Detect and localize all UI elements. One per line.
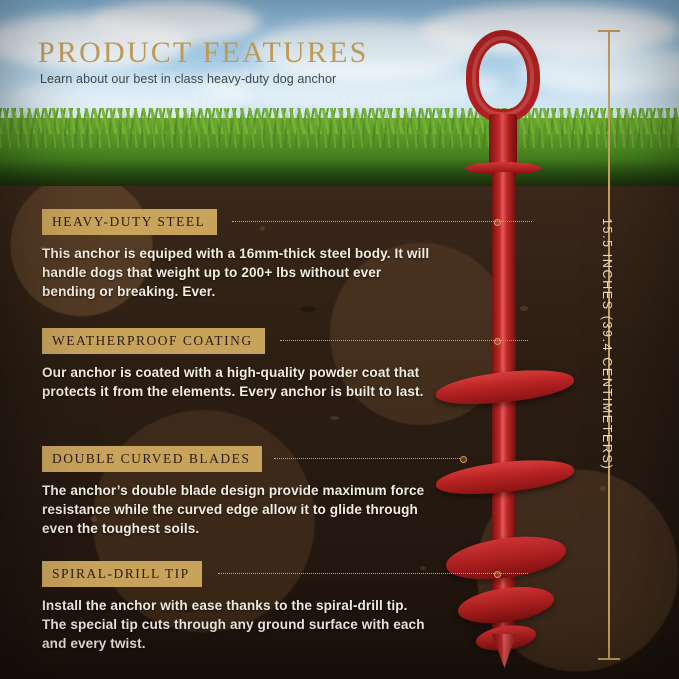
feature-callout-3: DOUBLE CURVED BLADES The anchor’s double… <box>42 446 434 538</box>
feature-callout-4: SPIRAL-DRILL TIP Install the anchor with… <box>42 561 434 653</box>
anchor-spiral-flight-2 <box>458 582 554 628</box>
feature-callout-2: WEATHERPROOF COATING Our anchor is coate… <box>42 328 434 401</box>
feature-tag-weatherproof-coating: WEATHERPROOF COATING <box>42 328 265 354</box>
page-subtitle: Learn about our best in class heavy-duty… <box>40 72 336 86</box>
feature-body-weatherproof-coating: Our anchor is coated with a high-quality… <box>42 363 434 401</box>
measurement-label: 15.5 INCHES (39.4 CENTIMETERS) <box>600 218 614 470</box>
ruler-cap-bottom <box>598 658 620 660</box>
leader-endpoint-1 <box>494 219 501 226</box>
leader-line-3 <box>274 458 460 460</box>
feature-tag-spiral-drill-tip: SPIRAL-DRILL TIP <box>42 561 202 587</box>
feature-tag-heavy-duty-steel: HEAVY-DUTY STEEL <box>42 209 217 235</box>
product-image-ground-anchor <box>420 22 590 662</box>
leader-endpoint-3 <box>460 456 467 463</box>
feature-callout-1: HEAVY-DUTY STEEL This anchor is equiped … <box>42 209 434 301</box>
anchor-eye-highlight <box>472 36 534 116</box>
feature-tag-double-curved-blades: DOUBLE CURVED BLADES <box>42 446 262 472</box>
feature-body-heavy-duty-steel: This anchor is equiped with a 16mm-thick… <box>42 244 434 301</box>
page-title: PRODUCT FEATURES <box>38 36 369 70</box>
leader-endpoint-4 <box>494 571 501 578</box>
ruler-cap-top <box>598 30 620 32</box>
feature-body-double-curved-blades: The anchor’s double blade design provide… <box>42 481 434 538</box>
anchor-spiral-flight-1 <box>446 531 566 586</box>
leader-line-1 <box>232 221 532 223</box>
leader-endpoint-2 <box>494 338 501 345</box>
infographic-canvas: PRODUCT FEATURES Learn about our best in… <box>0 0 679 679</box>
leader-line-2 <box>280 340 528 342</box>
leader-line-4 <box>218 573 528 575</box>
feature-body-spiral-drill-tip: Install the anchor with ease thanks to t… <box>42 596 434 653</box>
